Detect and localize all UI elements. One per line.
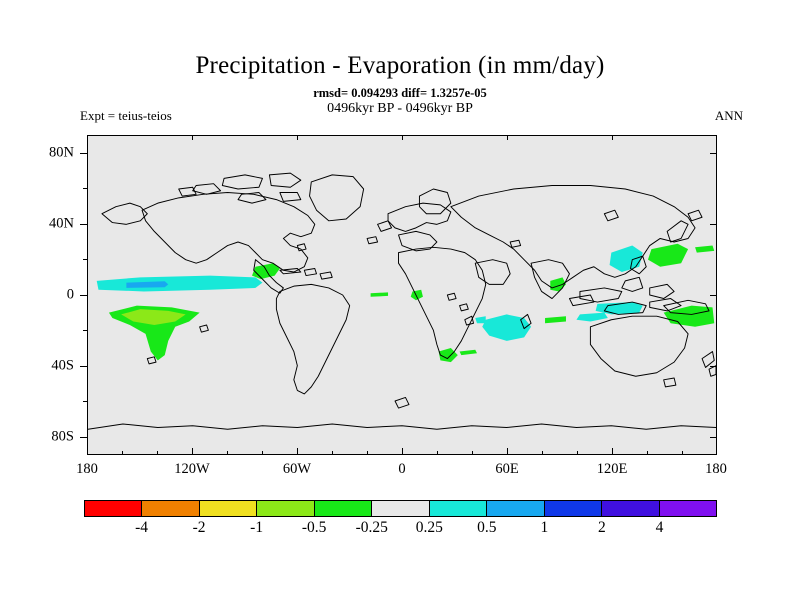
- map-plot-area: [87, 135, 717, 455]
- colorbar-tick-label-3: -0.5: [302, 519, 327, 537]
- colorbar-tick-label-5: 0.25: [416, 519, 443, 537]
- colorbar-swatch-2: [199, 501, 256, 516]
- page-title: Precipitation - Evaporation (in mm/day): [0, 52, 800, 80]
- ytick-label-3: 40S: [51, 358, 74, 375]
- xtick-label-4: 60E: [495, 461, 518, 478]
- colorbar-swatch-3: [256, 501, 313, 516]
- colorbar-tick-label-2: -1: [250, 519, 263, 537]
- ytick-label-1: 40N: [49, 216, 74, 233]
- ytick-label-2: 0: [67, 287, 74, 304]
- colorbar-tick-label-7: 1: [540, 519, 548, 537]
- colorbar-swatch-0: [85, 501, 141, 516]
- map-background: [88, 136, 716, 454]
- colorbar-swatch-7: [486, 501, 543, 516]
- colorbar-tick-label-8: 2: [598, 519, 606, 537]
- season-label: ANN: [715, 108, 743, 124]
- colorbar-label-row: -4-2-1-0.5-0.250.250.5124: [84, 519, 717, 543]
- xtick-label-0: 180: [76, 461, 98, 478]
- colorbar-swatch-10: [659, 501, 716, 516]
- colorbar-tick-label-6: 0.5: [477, 519, 496, 537]
- ytick-label-4: 80S: [51, 429, 74, 446]
- xtick-label-2: 60W: [283, 461, 311, 478]
- colorbar-swatch-8: [544, 501, 601, 516]
- colorbar-swatch-5: [371, 501, 428, 516]
- colorbar-tick-label-9: 4: [656, 519, 664, 537]
- xtick-label-5: 120E: [597, 461, 628, 478]
- colorbar-tick-label-1: -2: [193, 519, 206, 537]
- experiment-label: Expt = teius-teios: [80, 108, 172, 124]
- xtick-label-3: 0: [398, 461, 405, 478]
- colorbar-swatch-4: [314, 501, 371, 516]
- colorbar-swatch-9: [601, 501, 658, 516]
- xtick-label-1: 120W: [174, 461, 209, 478]
- colorbar-tick-label-4: -0.25: [356, 519, 388, 537]
- colorbar: [84, 500, 717, 517]
- colorbar-swatch-6: [429, 501, 486, 516]
- colorbar-swatch-1: [141, 501, 198, 516]
- colorbar-tick-label-0: -4: [135, 519, 148, 537]
- ytick-label-0: 80N: [49, 145, 74, 162]
- world-map: [88, 136, 716, 454]
- xtick-label-6: 180: [705, 461, 727, 478]
- rmsd-stats-line: rmsd= 0.094293 diff= 1.3257e-05: [0, 86, 800, 101]
